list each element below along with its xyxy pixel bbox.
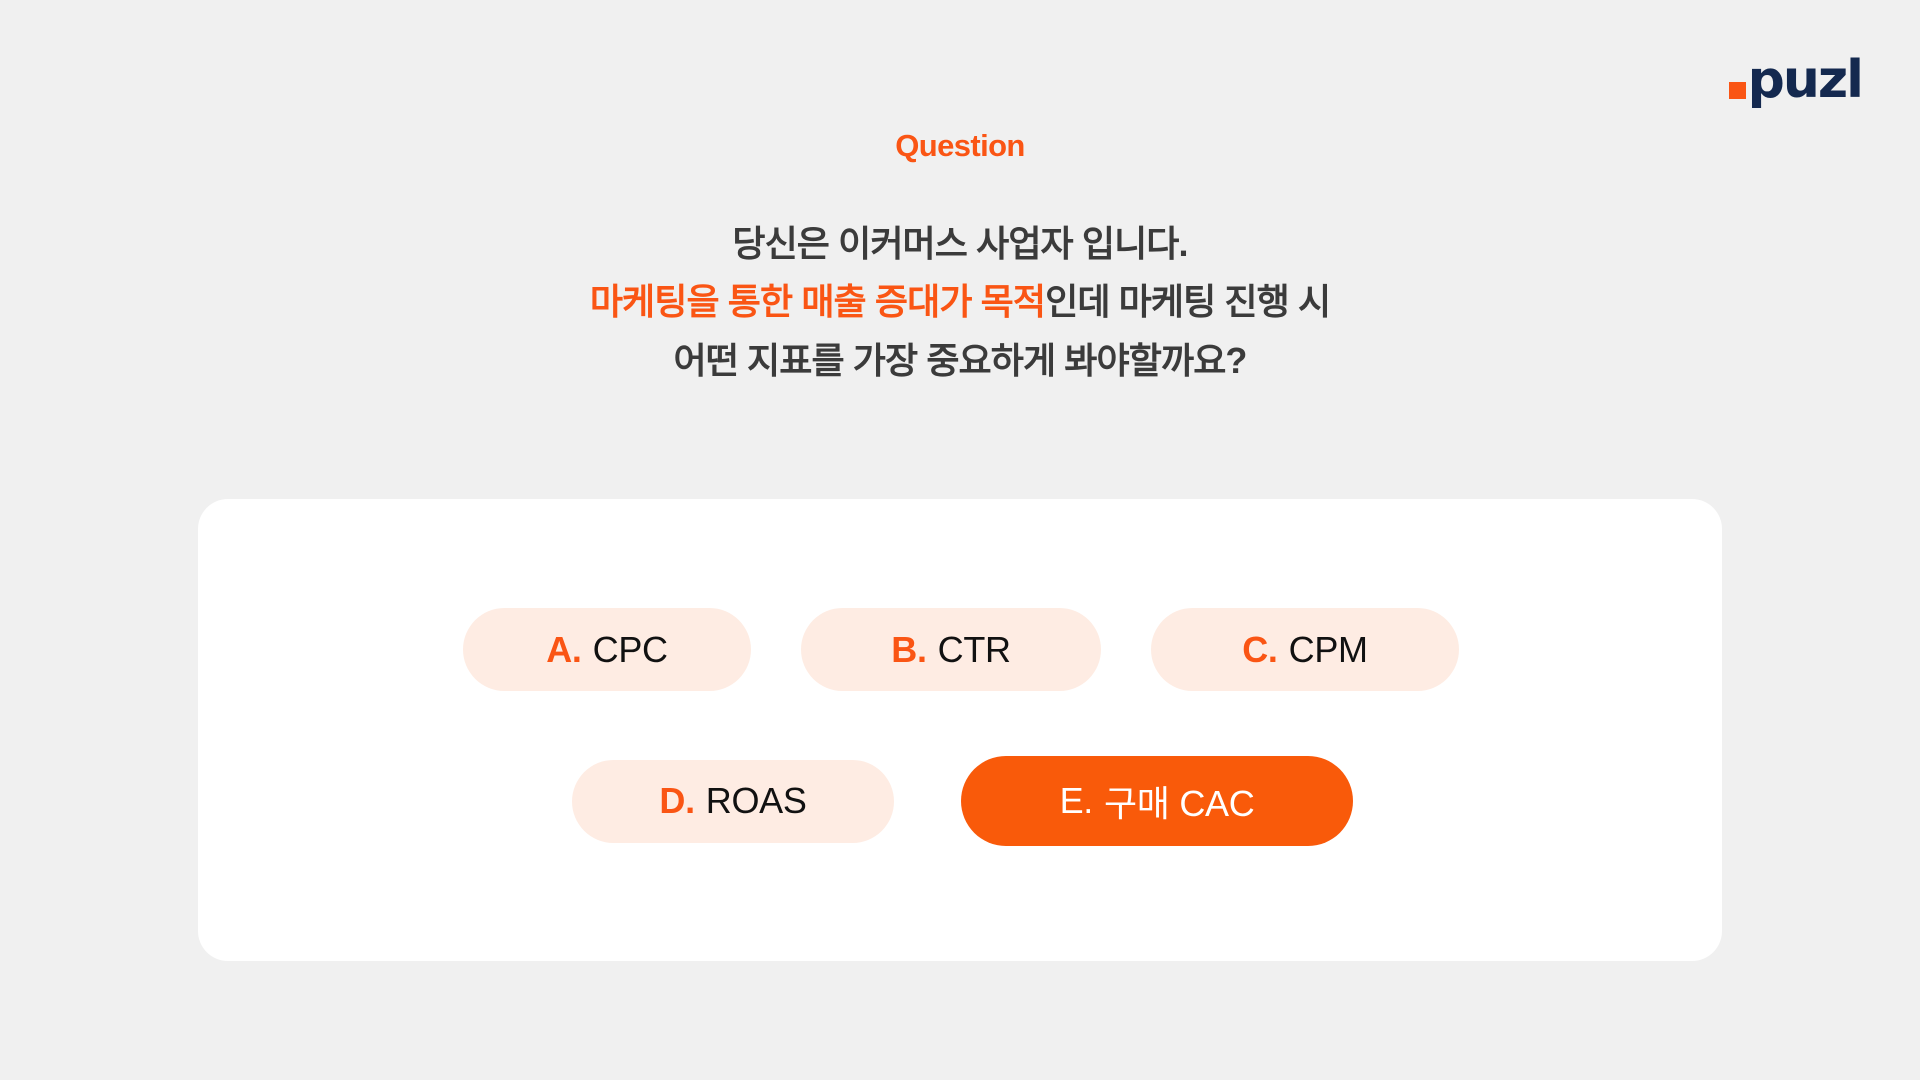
answer-option-d[interactable]: D. ROAS xyxy=(572,760,894,843)
logo-dot-icon xyxy=(1729,82,1746,99)
answer-option-b[interactable]: B. CTR xyxy=(801,608,1101,691)
logo-wordmark: puzl xyxy=(1748,60,1862,102)
answer-option-a-label: CPC xyxy=(593,629,668,671)
answer-option-a-mark: A. xyxy=(546,629,581,671)
answer-option-a[interactable]: A. CPC xyxy=(463,608,751,691)
question-line-2-rest: 인데 마케팅 진행 시 xyxy=(1045,281,1330,322)
answer-option-d-label: ROAS xyxy=(706,780,807,822)
answer-option-b-label: CTR xyxy=(938,629,1011,671)
question-line-3: 어떤 지표를 가장 중요하게 봐야할까요? xyxy=(0,332,1920,390)
question-line-1: 당신은 이커머스 사업자 입니다. xyxy=(0,215,1920,273)
question-line-2-highlight: 마케팅을 통한 매출 증대가 목적 xyxy=(590,281,1045,322)
question-line-2: 마케팅을 통한 매출 증대가 목적인데 마케팅 진행 시 xyxy=(0,273,1920,331)
question-label: Question xyxy=(0,128,1920,164)
answer-option-e-mark: E. xyxy=(1060,780,1093,822)
answer-option-c-label: CPM xyxy=(1289,629,1368,671)
answer-option-c-mark: C. xyxy=(1242,629,1277,671)
answer-option-b-mark: B. xyxy=(891,629,926,671)
brand-logo: puzl xyxy=(1729,46,1862,102)
answer-option-e[interactable]: E. 구매 CAC xyxy=(961,756,1353,846)
answer-row-1: A. CPC B. CTR C. CPM xyxy=(463,608,1459,691)
answer-option-d-mark: D. xyxy=(659,780,694,822)
answer-option-c[interactable]: C. CPM xyxy=(1151,608,1459,691)
answer-row-2: D. ROAS E. 구매 CAC xyxy=(572,756,1353,846)
answers-card: A. CPC B. CTR C. CPM D. ROAS E. 구매 CAC xyxy=(198,499,1722,961)
answer-option-e-label: 구매 CAC xyxy=(1104,775,1254,827)
question-text: 당신은 이커머스 사업자 입니다. 마케팅을 통한 매출 증대가 목적인데 마케… xyxy=(0,215,1920,390)
